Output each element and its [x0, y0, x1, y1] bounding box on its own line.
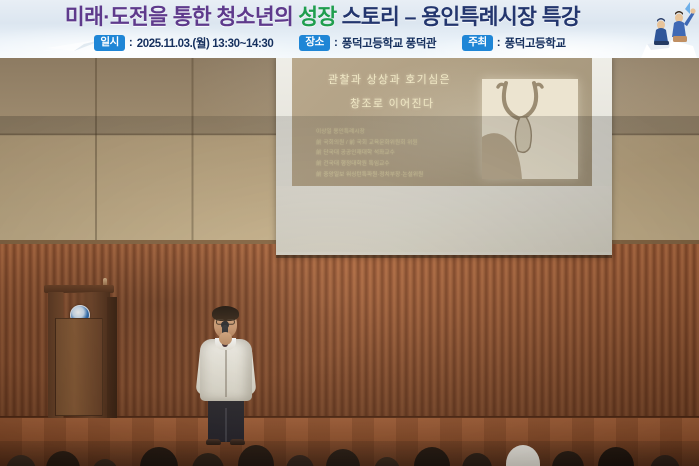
info-value-date: 2025.11.03.(월) 13:30~14:30: [137, 35, 274, 51]
banner-title: 미래·도전을 통한 청소년의 성장 스토리 – 용인특례시장 특강: [0, 1, 645, 29]
info-separator-date: :: [129, 37, 133, 49]
student-audience: [0, 441, 699, 466]
mascot-figures-icon: [641, 0, 697, 58]
event-banner: 미래·도전을 통한 청소년의 성장 스토리 – 용인특례시장 특강 일시 : 2…: [0, 0, 699, 58]
podium-body: [48, 292, 110, 418]
info-item-place: 장소 : 풍덕고등학교 풍덕관: [299, 35, 436, 51]
projection-screen: 관찰과 상상과 호기심은 창조로 이어진다 이상일 용인특례시장 前 국회의원 …: [276, 58, 612, 255]
podium-side-panel: [107, 297, 117, 418]
presentation-slide: 관찰과 상상과 호기심은 창조로 이어진다 이상일 용인특례시장 前 국회의원 …: [292, 58, 592, 186]
banner-title-part-1: 미래·도전을 통한 청소년의: [65, 0, 293, 31]
badge-date-label: 일시: [94, 35, 125, 51]
info-item-host: 주최 : 풍덕고등학교: [462, 35, 565, 51]
speaker-trousers: [208, 398, 244, 442]
banner-title-part-3: 스토리 – 용인특례시장 특강: [342, 0, 580, 31]
slide-heading-line-2: 창조로 이어진다: [350, 95, 434, 111]
screenshot-root: 미래·도전을 통한 청소년의 성장 스토리 – 용인특례시장 특강 일시 : 2…: [0, 0, 699, 466]
info-separator-host: :: [497, 37, 501, 49]
slide-bullet-item: 이상일 용인특례시장: [316, 127, 496, 138]
slide-bullet-item: 前 중앙일보 워싱턴특파원·정치부장·논설위원: [316, 170, 496, 181]
speaker-jacket-zipper: [225, 345, 227, 397]
info-value-place: 풍덕고등학교 풍덕관: [342, 35, 436, 51]
speaker-figure: [196, 305, 256, 445]
info-item-date: 일시 : 2025.11.03.(월) 13:30~14:30: [94, 35, 273, 51]
podium-front-panel: [55, 318, 103, 416]
banner-info-bar: 일시 : 2025.11.03.(월) 13:30~14:30 장소 : 풍덕고…: [0, 30, 660, 56]
slide-bullet-item: 前 건국대 행정대학원 특임교수: [316, 159, 496, 170]
audience-depth-blur: [0, 441, 699, 466]
info-separator-place: :: [334, 37, 338, 49]
speaker-hands: [219, 332, 232, 345]
badge-host-label: 주최: [462, 35, 493, 51]
slide-bullet-item: 前 국회의원 / 前 국회 교육문화위원회 위원: [316, 138, 496, 149]
bull-horns-sculpture-icon: [482, 79, 578, 179]
slide-heading-line-1: 관찰과 상상과 호기심은: [328, 71, 451, 87]
banner-title-part-2: 성장: [298, 0, 336, 31]
slide-illustration: [482, 79, 578, 179]
badge-place-label: 장소: [299, 35, 330, 51]
info-value-host: 풍덕고등학교: [505, 35, 566, 51]
event-photo: 관찰과 상상과 호기심은 창조로 이어진다 이상일 용인특례시장 前 국회의원 …: [0, 58, 699, 466]
screen-lower-blank-area: [276, 186, 612, 252]
lectern-podium: [48, 285, 110, 418]
slide-bullet-item: 前 단국대 공공인재대학 석좌교수: [316, 148, 496, 159]
slide-bullet-list: 이상일 용인특례시장 前 국회의원 / 前 국회 교육문화위원회 위원 前 단국…: [316, 127, 496, 180]
